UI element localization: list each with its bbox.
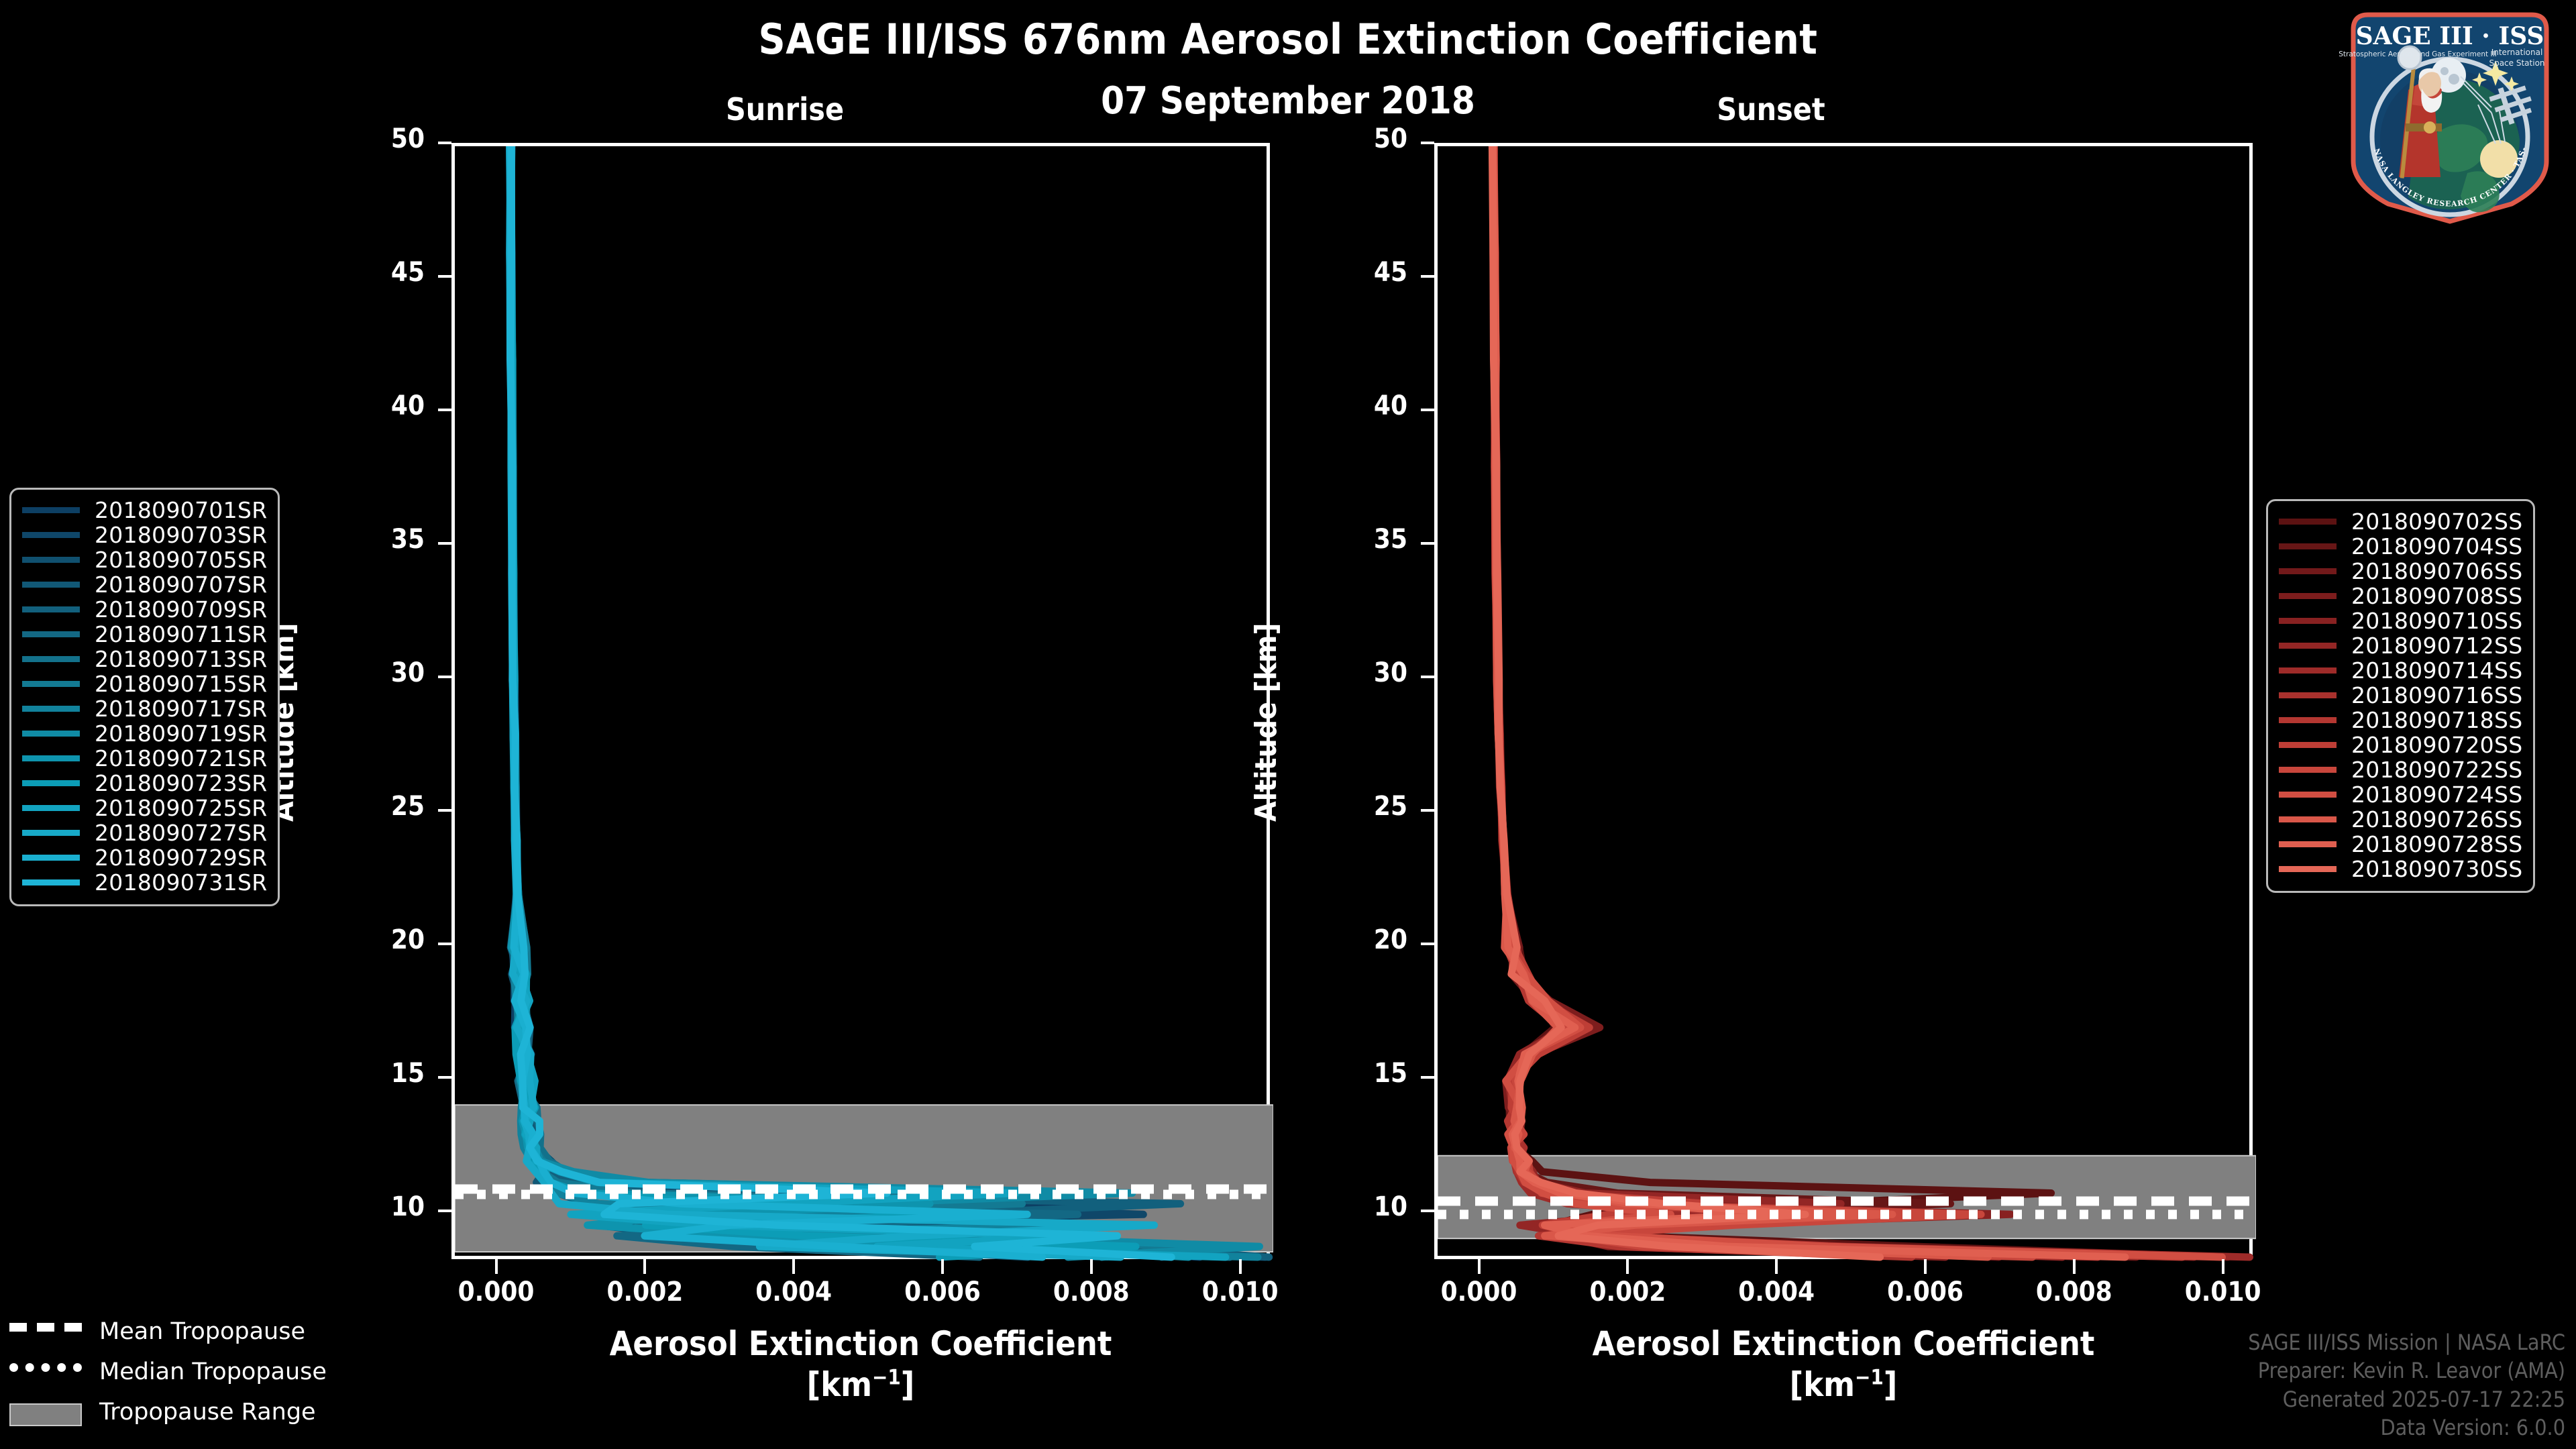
legend-sunset-item[interactable]: 2018090730SS	[2279, 857, 2522, 881]
y-tick-label: 20	[1280, 924, 1407, 955]
dashed-line-icon	[9, 1323, 82, 1340]
line-swatch-icon	[2279, 841, 2337, 847]
line-swatch-icon	[22, 731, 80, 737]
legend-sunset-item[interactable]: 2018090718SS	[2279, 708, 2522, 733]
legend-sunrise-item[interactable]: 2018090727SR	[22, 820, 267, 845]
legend-sunrise-label: 2018090721SR	[95, 745, 267, 771]
legend-sunset-item[interactable]: 2018090724SS	[2279, 782, 2522, 807]
y-tick-mark	[1421, 809, 1434, 812]
tropopause-legend: Mean Tropopause Median Tropopause Tropop…	[9, 1311, 372, 1432]
x-axis-title-line1: Aerosol Extinction Coefficient	[1434, 1324, 2253, 1364]
chart-panel-sunset: 1015202530354045500.0000.0020.0040.0060.…	[0, 0, 2576, 1449]
legend-sunrise-label: 2018090731SR	[95, 869, 267, 896]
legend-sunset-item[interactable]: 2018090702SS	[2279, 509, 2522, 534]
line-swatch-icon	[22, 805, 80, 811]
legend-sunrise-label: 2018090723SR	[95, 770, 267, 796]
legend-sunset-label: 2018090708SS	[2351, 583, 2522, 609]
legend-sunrise-item[interactable]: 2018090717SR	[22, 696, 267, 721]
legend-sunrise-item[interactable]: 2018090725SR	[22, 796, 267, 820]
legend-sunset-item[interactable]: 2018090712SS	[2279, 633, 2522, 658]
legend-sunset-events[interactable]: 2018090702SS2018090704SS2018090706SS2018…	[2266, 499, 2535, 893]
x-tick-label: 0.010	[2136, 1277, 2310, 1307]
legend-item-median-tropopause: Median Tropopause	[9, 1352, 372, 1392]
legend-sunset-label: 2018090706SS	[2351, 558, 2522, 584]
legend-item-tropopause-range: Tropopause Range	[9, 1392, 372, 1432]
legend-sunrise-item[interactable]: 2018090701SR	[22, 498, 267, 523]
legend-label-median-tropopause: Median Tropopause	[99, 1358, 327, 1385]
profile-line	[1493, 146, 2250, 1257]
profile-line	[1493, 146, 2182, 1257]
legend-sunset-label: 2018090720SS	[2351, 732, 2522, 758]
x-tick-mark	[1626, 1259, 1629, 1274]
profile-line	[1493, 146, 2010, 1257]
profile-line	[1494, 146, 2222, 1257]
line-swatch-icon	[22, 780, 80, 786]
legend-sunset-item[interactable]: 2018090726SS	[2279, 807, 2522, 832]
legend-sunset-item[interactable]: 2018090722SS	[2279, 757, 2522, 782]
y-tick-label: 10	[1280, 1191, 1407, 1222]
line-swatch-icon	[22, 557, 80, 563]
credits-line-mission: SAGE III/ISS Mission | NASA LaRC	[2248, 1328, 2565, 1357]
x-tick-mark	[1924, 1259, 1927, 1274]
legend-sunrise-label: 2018090709SR	[95, 596, 267, 623]
legend-sunset-item[interactable]: 2018090710SS	[2279, 608, 2522, 633]
legend-sunrise-item[interactable]: 2018090723SR	[22, 771, 267, 796]
line-swatch-icon	[22, 830, 80, 836]
legend-sunrise-item[interactable]: 2018090705SR	[22, 547, 267, 572]
x-tick-mark	[2073, 1259, 2076, 1274]
profile-curves-sunset	[1438, 146, 2256, 1263]
legend-sunset-label: 2018090718SS	[2351, 707, 2522, 733]
line-swatch-icon	[22, 706, 80, 712]
legend-sunset-item[interactable]: 2018090716SS	[2279, 683, 2522, 708]
legend-sunrise-item[interactable]: 2018090731SR	[22, 870, 267, 895]
legend-sunset-label: 2018090716SS	[2351, 682, 2522, 708]
plot-area-sunset	[1434, 143, 2253, 1259]
line-swatch-icon	[2279, 543, 2337, 549]
line-swatch-icon	[2279, 618, 2337, 624]
profile-line	[1493, 146, 2228, 1257]
legend-sunrise-item[interactable]: 2018090721SR	[22, 746, 267, 771]
line-swatch-icon	[2279, 593, 2337, 599]
credits-line-generated: Generated 2025-07-17 22:25	[2248, 1385, 2565, 1414]
line-swatch-icon	[22, 606, 80, 612]
legend-sunset-label: 2018090728SS	[2351, 831, 2522, 857]
line-swatch-icon	[2279, 692, 2337, 698]
legend-sunrise-label: 2018090701SR	[95, 497, 267, 523]
legend-sunrise-item[interactable]: 2018090719SR	[22, 721, 267, 746]
legend-sunset-item[interactable]: 2018090704SS	[2279, 534, 2522, 559]
y-tick-label: 30	[1280, 657, 1407, 688]
profile-line	[1494, 146, 2194, 1257]
x-tick-mark	[1775, 1259, 1778, 1274]
y-tick-label: 40	[1280, 390, 1407, 421]
x-tick-mark	[1478, 1259, 1481, 1274]
legend-sunrise-label: 2018090715SR	[95, 671, 267, 697]
legend-sunrise-label: 2018090719SR	[95, 720, 267, 747]
legend-sunset-label: 2018090712SS	[2351, 633, 2522, 659]
line-swatch-icon	[22, 507, 80, 513]
line-swatch-icon	[2279, 792, 2337, 798]
legend-sunrise-item[interactable]: 2018090711SR	[22, 622, 267, 647]
profile-line	[1492, 146, 1914, 1257]
profile-line	[1493, 146, 2098, 1257]
line-swatch-icon	[2279, 568, 2337, 574]
legend-sunrise-label: 2018090725SR	[95, 795, 267, 821]
legend-sunset-label: 2018090722SS	[2351, 757, 2522, 783]
legend-label-mean-tropopause: Mean Tropopause	[99, 1318, 305, 1345]
line-swatch-icon	[22, 681, 80, 687]
line-swatch-icon	[22, 532, 80, 538]
legend-item-mean-tropopause: Mean Tropopause	[9, 1311, 372, 1352]
credits-line-data-version: Data Version: 6.0.0	[2248, 1413, 2565, 1442]
y-tick-mark	[1421, 1210, 1434, 1212]
legend-sunrise-label: 2018090717SR	[95, 696, 267, 722]
legend-sunrise-label: 2018090713SR	[95, 646, 267, 672]
x-tick-mark	[2222, 1259, 2224, 1274]
legend-label-tropopause-range: Tropopause Range	[99, 1399, 316, 1426]
logo-subtitle-left: Stratospheric Aerosol and Gas Experiment…	[2339, 50, 2497, 58]
line-swatch-icon	[22, 631, 80, 637]
legend-sunset-item[interactable]: 2018090728SS	[2279, 832, 2522, 857]
y-axis-title: Altitude [km]	[1249, 623, 1283, 822]
legend-sunrise-label: 2018090727SR	[95, 820, 267, 846]
dotted-line-icon	[9, 1363, 82, 1381]
logo-title: SAGE III · ISS	[2356, 22, 2544, 50]
profile-line	[1493, 146, 2033, 1257]
legend-sunset-item[interactable]: 2018090714SS	[2279, 658, 2522, 683]
legend-sunrise-item[interactable]: 2018090707SR	[22, 572, 267, 597]
profile-line	[1493, 146, 1999, 1257]
y-tick-mark	[1421, 943, 1434, 945]
y-tick-mark	[1421, 275, 1434, 278]
legend-sunset-label: 2018090730SS	[2351, 856, 2522, 882]
x-axis-title-units: [km−1]	[1434, 1364, 2253, 1405]
legend-sunrise-events[interactable]: 2018090701SR2018090703SR2018090705SR2018…	[9, 488, 280, 906]
logo-subtitle-right-2: Space Station	[2489, 58, 2544, 68]
y-tick-label: 50	[1280, 123, 1407, 154]
profile-line	[1493, 146, 2126, 1257]
y-tick-mark	[1421, 409, 1434, 411]
legend-sunrise-label: 2018090705SR	[95, 547, 267, 573]
line-swatch-icon	[22, 855, 80, 861]
y-tick-mark	[1421, 1076, 1434, 1079]
line-swatch-icon	[2279, 519, 2337, 525]
legend-sunrise-label: 2018090711SR	[95, 621, 267, 647]
mission-patch-icon: BALL · NASA LANGLEY RESEARCH CENTER · TA…	[2336, 5, 2564, 227]
profile-line	[1494, 146, 2137, 1257]
credits-block: SAGE III/ISS Mission | NASA LaRC Prepare…	[2248, 1328, 2565, 1442]
line-swatch-icon	[2279, 643, 2337, 649]
y-tick-label: 35	[1280, 524, 1407, 555]
legend-sunrise-label: 2018090707SR	[95, 572, 267, 598]
legend-sunset-label: 2018090714SS	[2351, 657, 2522, 684]
gray-band-swatch-icon	[9, 1403, 82, 1421]
line-swatch-icon	[22, 582, 80, 588]
logo-subtitle-right-1: International	[2491, 48, 2543, 57]
legend-sunrise-item[interactable]: 2018090729SR	[22, 845, 267, 870]
profile-line	[1492, 146, 1880, 1257]
line-swatch-icon	[22, 755, 80, 761]
line-swatch-icon	[2279, 742, 2337, 748]
legend-sunrise-item[interactable]: 2018090709SR	[22, 597, 267, 622]
profile-line	[1493, 146, 1988, 1257]
y-tick-mark	[1421, 676, 1434, 678]
y-tick-label: 25	[1280, 791, 1407, 822]
legend-sunrise-label: 2018090703SR	[95, 522, 267, 548]
legend-sunrise-item[interactable]: 2018090715SR	[22, 672, 267, 696]
line-swatch-icon	[2279, 866, 2337, 872]
line-swatch-icon	[2279, 816, 2337, 822]
legend-sunset-label: 2018090726SS	[2351, 806, 2522, 833]
legend-sunrise-item[interactable]: 2018090703SR	[22, 523, 267, 547]
line-swatch-icon	[22, 879, 80, 885]
legend-sunrise-label: 2018090729SR	[95, 845, 267, 871]
y-tick-mark	[1421, 142, 1434, 144]
sage-iii-iss-logo: BALL · NASA LANGLEY RESEARCH CENTER · TA…	[2336, 5, 2564, 227]
line-swatch-icon	[22, 656, 80, 662]
credits-line-preparer: Preparer: Kevin R. Leavor (AMA)	[2248, 1356, 2565, 1385]
legend-sunset-label: 2018090704SS	[2351, 533, 2522, 559]
profile-line	[1493, 146, 2063, 1257]
line-swatch-icon	[2279, 767, 2337, 773]
y-tick-label: 45	[1280, 257, 1407, 288]
y-tick-label: 15	[1280, 1058, 1407, 1089]
legend-sunset-item[interactable]: 2018090708SS	[2279, 584, 2522, 608]
legend-sunset-item[interactable]: 2018090706SS	[2279, 559, 2522, 584]
legend-sunset-label: 2018090724SS	[2351, 782, 2522, 808]
legend-sunset-item[interactable]: 2018090720SS	[2279, 733, 2522, 757]
x-axis-title: Aerosol Extinction Coefficient[km−1]	[1434, 1324, 2253, 1405]
legend-sunset-label: 2018090702SS	[2351, 508, 2522, 535]
y-tick-mark	[1421, 542, 1434, 545]
line-swatch-icon	[2279, 667, 2337, 674]
legend-sunrise-item[interactable]: 2018090713SR	[22, 647, 267, 672]
legend-sunset-label: 2018090710SS	[2351, 608, 2522, 634]
line-swatch-icon	[2279, 717, 2337, 723]
